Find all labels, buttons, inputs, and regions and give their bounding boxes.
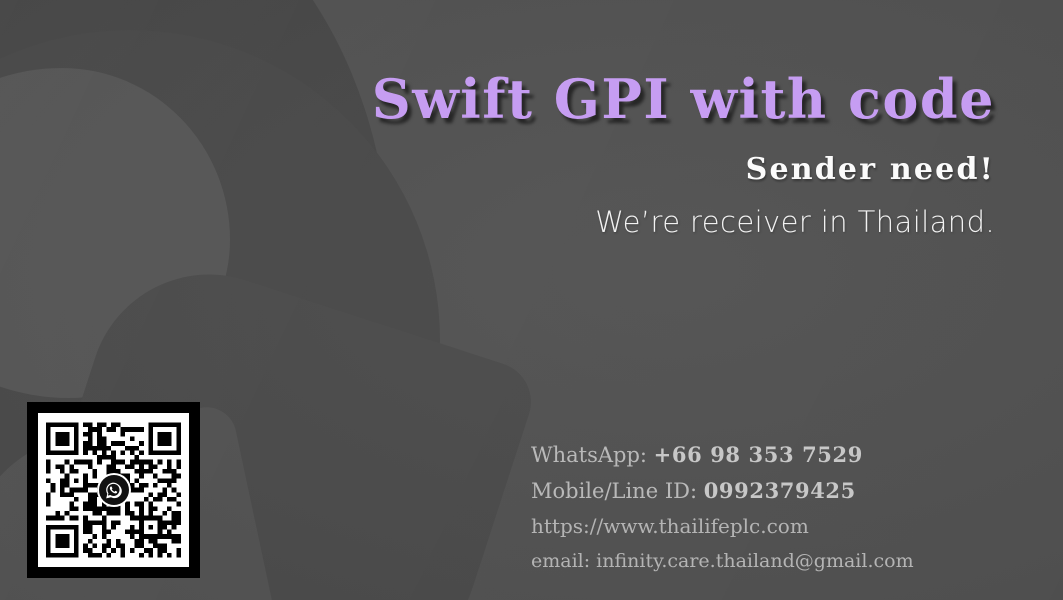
- whatsapp-icon: [99, 475, 129, 505]
- qr-code-quiet-zone: [38, 413, 189, 567]
- headline-tagline: We’re receiver in Thailand.: [255, 205, 995, 239]
- business-card: Swift GPI with code Sender need! We’re r…: [0, 0, 1063, 600]
- watermark-glyph-counter: [0, 68, 230, 398]
- whatsapp-number[interactable]: +66 98 353 7529: [654, 442, 863, 467]
- contact-row-whatsapp: WhatsApp: +66 98 353 7529: [531, 437, 914, 473]
- headline-block: Swift GPI with code Sender need! We’re r…: [255, 72, 995, 239]
- headline-subtitle: Sender need!: [255, 152, 995, 187]
- qr-code-frame[interactable]: [27, 402, 200, 578]
- email-address[interactable]: email: infinity.care.thailand@gmail.com: [531, 544, 914, 579]
- qr-center-logo: [97, 473, 131, 507]
- line-id-number[interactable]: 0992379425: [704, 478, 856, 503]
- contact-row-line-id: Mobile/Line ID: 0992379425: [531, 473, 914, 509]
- line-id-label: Mobile/Line ID:: [531, 479, 697, 503]
- contact-details: WhatsApp: +66 98 353 7529 Mobile/Line ID…: [531, 437, 914, 579]
- whatsapp-label: WhatsApp:: [531, 443, 647, 467]
- page-title: Swift GPI with code: [255, 72, 995, 126]
- website-link[interactable]: https://www.thailifeplc.com: [531, 509, 914, 544]
